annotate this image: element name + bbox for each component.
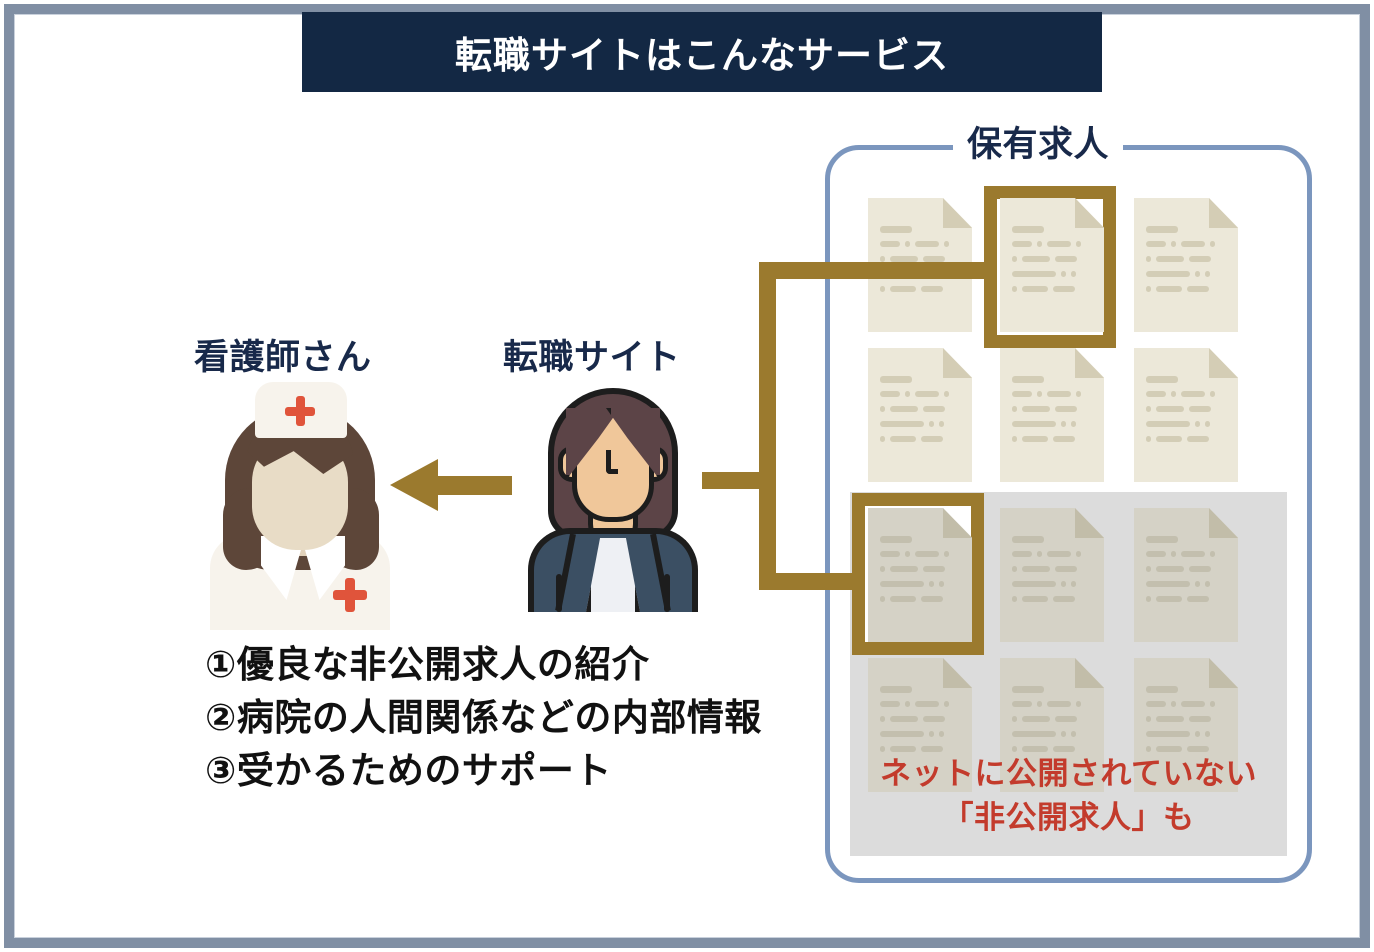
consultant-nose <box>606 450 618 474</box>
benefits-list: ①優良な非公開求人の紹介 ②病院の人間関係などの内部情報 ③受かるためのサポート <box>205 638 825 797</box>
connector-spine <box>759 262 776 590</box>
document-lines <box>880 536 960 611</box>
document-lines <box>1146 376 1226 451</box>
nurse-label: 看護師さん <box>194 329 372 380</box>
infographic-canvas: 転職サイトはこんなサービス 看護師さん 転職サイト <box>0 0 1374 952</box>
list-item: ②病院の人間関係などの内部情報 <box>205 691 825 744</box>
hidden-jobs-caption-line2: 「非公開求人」も <box>850 796 1287 840</box>
hidden-jobs-caption: ネットに公開されていない 「非公開求人」も <box>850 752 1287 840</box>
connector-branch-top <box>759 262 997 279</box>
document-icon-highlighted <box>1000 198 1104 332</box>
document-lines <box>880 376 960 451</box>
arrow-left-icon <box>390 459 512 511</box>
jobs-panel-label: 保有求人 <box>953 124 1123 166</box>
document-icon <box>1000 348 1104 482</box>
list-item: ③受かるためのサポート <box>205 744 825 797</box>
document-lines <box>1012 686 1092 761</box>
document-lines <box>1146 686 1226 761</box>
document-icon <box>1134 508 1238 642</box>
arrow-shaft <box>434 476 512 495</box>
list-item: ①優良な非公開求人の紹介 <box>205 638 825 691</box>
document-lines <box>1012 536 1092 611</box>
page-title: 転職サイトはこんなサービス <box>455 25 949 79</box>
consultant-sleeve-left <box>556 574 562 612</box>
title-banner: 転職サイトはこんなサービス <box>302 12 1102 92</box>
document-icon <box>1134 348 1238 482</box>
document-icon-highlighted <box>868 508 972 642</box>
document-lines <box>1012 226 1092 301</box>
red-cross-icon <box>333 578 367 612</box>
document-icon <box>1000 508 1104 642</box>
consultant-sleeve-right <box>664 574 670 612</box>
nurse-illustration <box>205 382 395 630</box>
red-cross-icon <box>285 396 315 426</box>
document-lines <box>1146 226 1226 301</box>
document-lines <box>880 686 960 761</box>
consultant-illustration <box>520 388 706 612</box>
hidden-jobs-caption-line1: ネットに公開されていない <box>850 752 1287 796</box>
site-label: 転職サイト <box>503 329 681 380</box>
arrow-head <box>390 459 438 511</box>
document-icon <box>1134 198 1238 332</box>
document-lines <box>1012 376 1092 451</box>
document-icon <box>868 348 972 482</box>
document-lines <box>1146 536 1226 611</box>
